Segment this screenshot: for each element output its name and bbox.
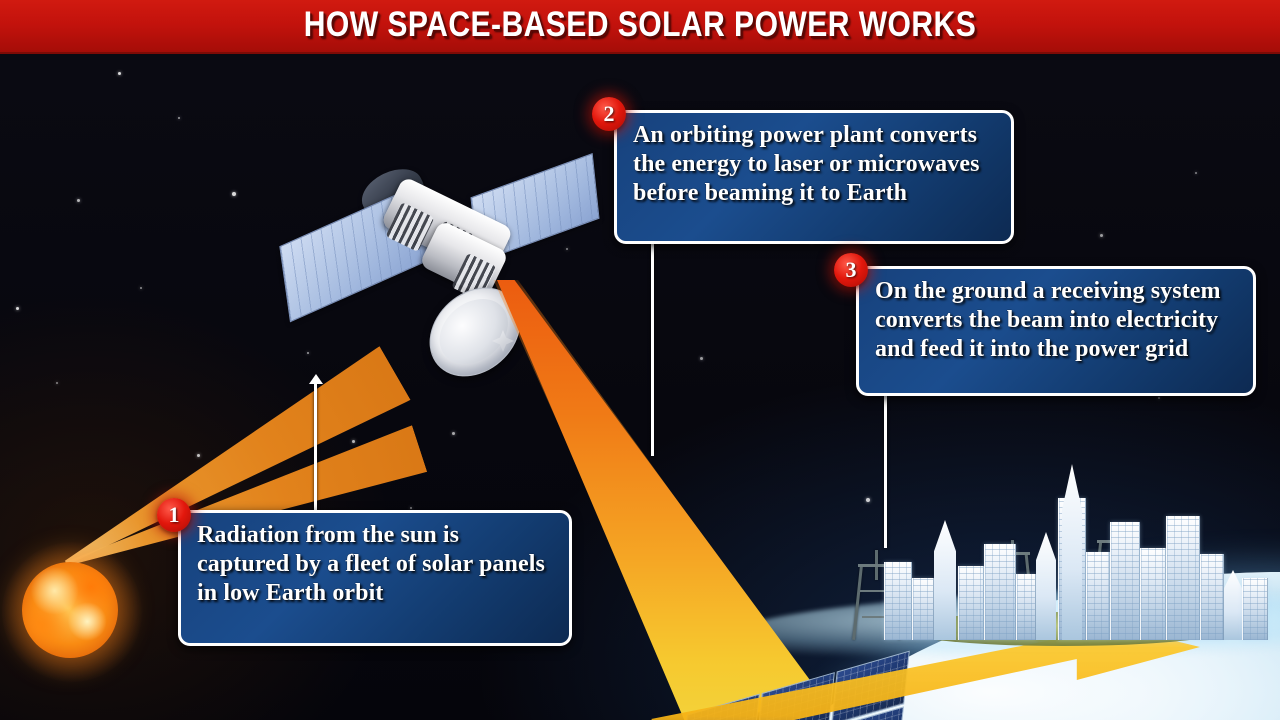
building-spire (934, 520, 956, 640)
star (307, 352, 309, 354)
building-spire (1224, 570, 1242, 640)
infographic-root: HOW SPACE-BASED SOLAR POWER WORKS (0, 0, 1280, 720)
star (1195, 172, 1197, 174)
callout-step-2[interactable]: An orbiting power plant converts the ene… (614, 110, 1014, 244)
star (232, 192, 236, 196)
star (16, 307, 19, 310)
building-windows (959, 566, 983, 640)
building-windows (985, 544, 1015, 640)
building (1166, 516, 1200, 640)
star (700, 357, 703, 360)
building (958, 566, 984, 640)
callout-step-1[interactable]: Radiation from the sun is captured by a … (178, 510, 572, 646)
star (1158, 397, 1160, 399)
star (56, 382, 58, 384)
callout-step-3-badge: 3 (834, 253, 868, 287)
star (352, 440, 355, 443)
callout-step-2-badge: 2 (592, 97, 626, 131)
star (118, 72, 121, 75)
pylon-leg (852, 566, 863, 640)
star (197, 454, 200, 457)
callout-step-1-text: Radiation from the sun is captured by a … (197, 521, 555, 608)
building (1200, 554, 1224, 640)
page-title: HOW SPACE-BASED SOLAR POWER WORKS (90, 0, 1191, 52)
leader-line-step-3 (884, 396, 887, 548)
landmark-tower-spire (1062, 464, 1082, 640)
building (1140, 548, 1166, 640)
building-windows (1017, 574, 1035, 640)
building-windows (1243, 578, 1267, 640)
leader-line-step-2 (651, 244, 654, 456)
star (1100, 234, 1103, 237)
callout-step-3-text: On the ground a receiving system convert… (875, 277, 1239, 364)
building (884, 562, 912, 640)
star (178, 117, 180, 119)
star (410, 507, 412, 509)
city-skyline (880, 450, 1280, 640)
building (912, 578, 934, 640)
building (984, 544, 1016, 640)
star (866, 498, 870, 502)
building-windows (1141, 548, 1165, 640)
building-windows (1167, 516, 1199, 640)
building-windows (1111, 522, 1139, 640)
header-banner: HOW SPACE-BASED SOLAR POWER WORKS (0, 0, 1280, 54)
star (452, 432, 455, 435)
leader-line-step-1 (314, 380, 317, 512)
building (1086, 552, 1110, 640)
building-windows (1201, 554, 1223, 640)
building (1242, 578, 1268, 640)
sun (22, 562, 118, 658)
building-spire (1036, 532, 1056, 640)
callout-step-3[interactable]: On the ground a receiving system convert… (856, 266, 1256, 396)
building-windows (913, 578, 933, 640)
leader-arrow-step-1 (309, 374, 323, 384)
star (77, 199, 80, 202)
building (1016, 574, 1036, 640)
building-windows (885, 562, 911, 640)
callout-step-1-badge: 1 (157, 498, 191, 532)
building (1110, 522, 1140, 640)
callout-step-2-text: An orbiting power plant converts the ene… (633, 121, 997, 208)
building-windows (1087, 552, 1109, 640)
star (140, 287, 142, 289)
